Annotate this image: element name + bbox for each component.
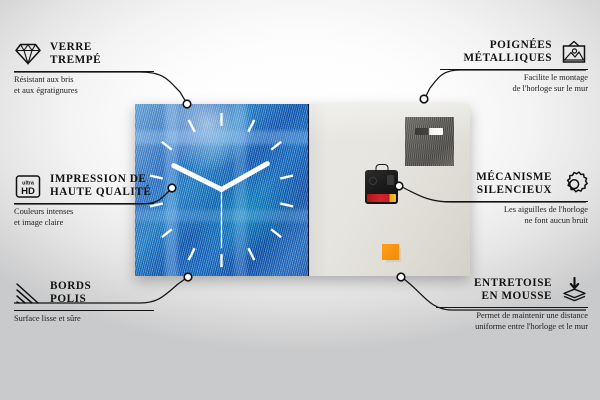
foam-spacer-pad	[382, 244, 399, 260]
clock-dial	[135, 104, 308, 275]
arrow-into-layers-icon	[560, 276, 588, 304]
mechanism-switch-detail	[387, 175, 394, 185]
svg-text:HD: HD	[21, 186, 35, 197]
feature-title: IMPRESSION DE HAUTE QUALITÉ	[50, 173, 151, 199]
feature-subtitle: Couleurs intenses et image claire	[14, 207, 154, 227]
feature-title: BORDS POLIS	[50, 280, 91, 306]
picture-frame-hook-icon	[560, 38, 588, 66]
feature-title: ENTRETOISE EN MOUSSE	[474, 277, 552, 303]
polished-edges-icon	[14, 279, 42, 307]
gear-icon	[560, 170, 588, 198]
feature-rule	[14, 310, 154, 311]
feature-subtitle: Les aiguilles de l'horloge ne font aucun…	[440, 205, 588, 225]
feature-subtitle: Résistant aux bris et aux égratignures	[14, 75, 154, 95]
feature-hd-print: ultra HD IMPRESSION DE HAUTE QUALITÉ Cou…	[14, 172, 154, 228]
product-image	[135, 104, 470, 276]
hanger-slot	[415, 128, 443, 135]
feature-title: VERRE TREMPÉ	[50, 41, 101, 67]
clock-mechanism	[365, 170, 398, 204]
feature-silent-mechanism: MÉCANISME SILENCIEUX Les aiguilles de l'…	[440, 170, 588, 226]
feature-subtitle: Permet de maintenir une distance uniform…	[436, 311, 588, 331]
feature-subtitle: Facilite le montage de l'horloge sur le …	[440, 73, 588, 93]
feature-title: POIGNÉES MÉTALLIQUES	[463, 39, 552, 65]
feature-rule	[436, 307, 588, 308]
metal-hanger-plate	[405, 117, 454, 166]
ultra-hd-icon: ultra HD	[14, 172, 42, 200]
connector-dot-metal-handles	[420, 95, 428, 103]
infographic-canvas: VERRE TREMPÉ Résistant aux bris et aux é…	[0, 0, 600, 400]
battery	[367, 194, 396, 202]
clock-front-panel	[135, 104, 309, 276]
mechanism-hanger-loop	[375, 164, 388, 172]
feature-rule	[440, 69, 588, 70]
feature-subtitle: Surface lisse et sûre	[14, 314, 154, 324]
feature-rule	[14, 203, 154, 204]
feature-foam-spacer: ENTRETOISE EN MOUSSE Permet de maintenir…	[436, 276, 588, 332]
diamond-icon	[14, 40, 42, 68]
feature-polished-edges: BORDS POLIS Surface lisse et sûre	[14, 279, 154, 325]
feature-title: MÉCANISME SILENCIEUX	[476, 171, 552, 197]
feature-metal-handles: POIGNÉES MÉTALLIQUES Facilite le montage…	[440, 38, 588, 94]
feature-tempered-glass: VERRE TREMPÉ Résistant aux bris et aux é…	[14, 40, 154, 96]
feature-rule	[440, 201, 588, 202]
feature-rule	[14, 71, 154, 72]
mechanism-dial-detail	[369, 177, 377, 185]
